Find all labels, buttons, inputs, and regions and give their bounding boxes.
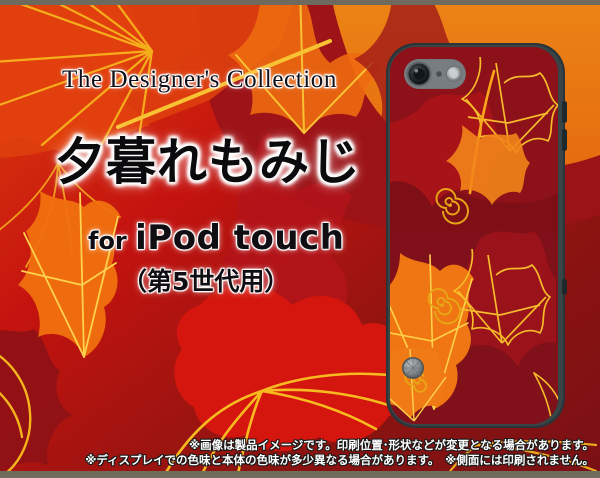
camera-module <box>404 59 466 89</box>
disclaimer-line-2: ※ディスプレイでの色味と本体の色味が多少異なる場合があります。 ※側面には印刷さ… <box>85 453 594 468</box>
loop-attachment-button <box>402 357 424 379</box>
product-banner: The Designer's Collection 夕暮れもみじ for iPo… <box>0 0 600 478</box>
disclaimer-line-1: ※画像は製品イメージです。印刷位置･形状などが変更となる場合があります。 <box>85 438 594 453</box>
ipod-touch-device <box>384 43 567 428</box>
frame-top-border <box>0 0 600 5</box>
frame-bottom-border <box>0 471 600 478</box>
disclaimer-notes: ※画像は製品イメージです。印刷位置･形状などが変更となる場合があります。 ※ディ… <box>85 438 594 468</box>
